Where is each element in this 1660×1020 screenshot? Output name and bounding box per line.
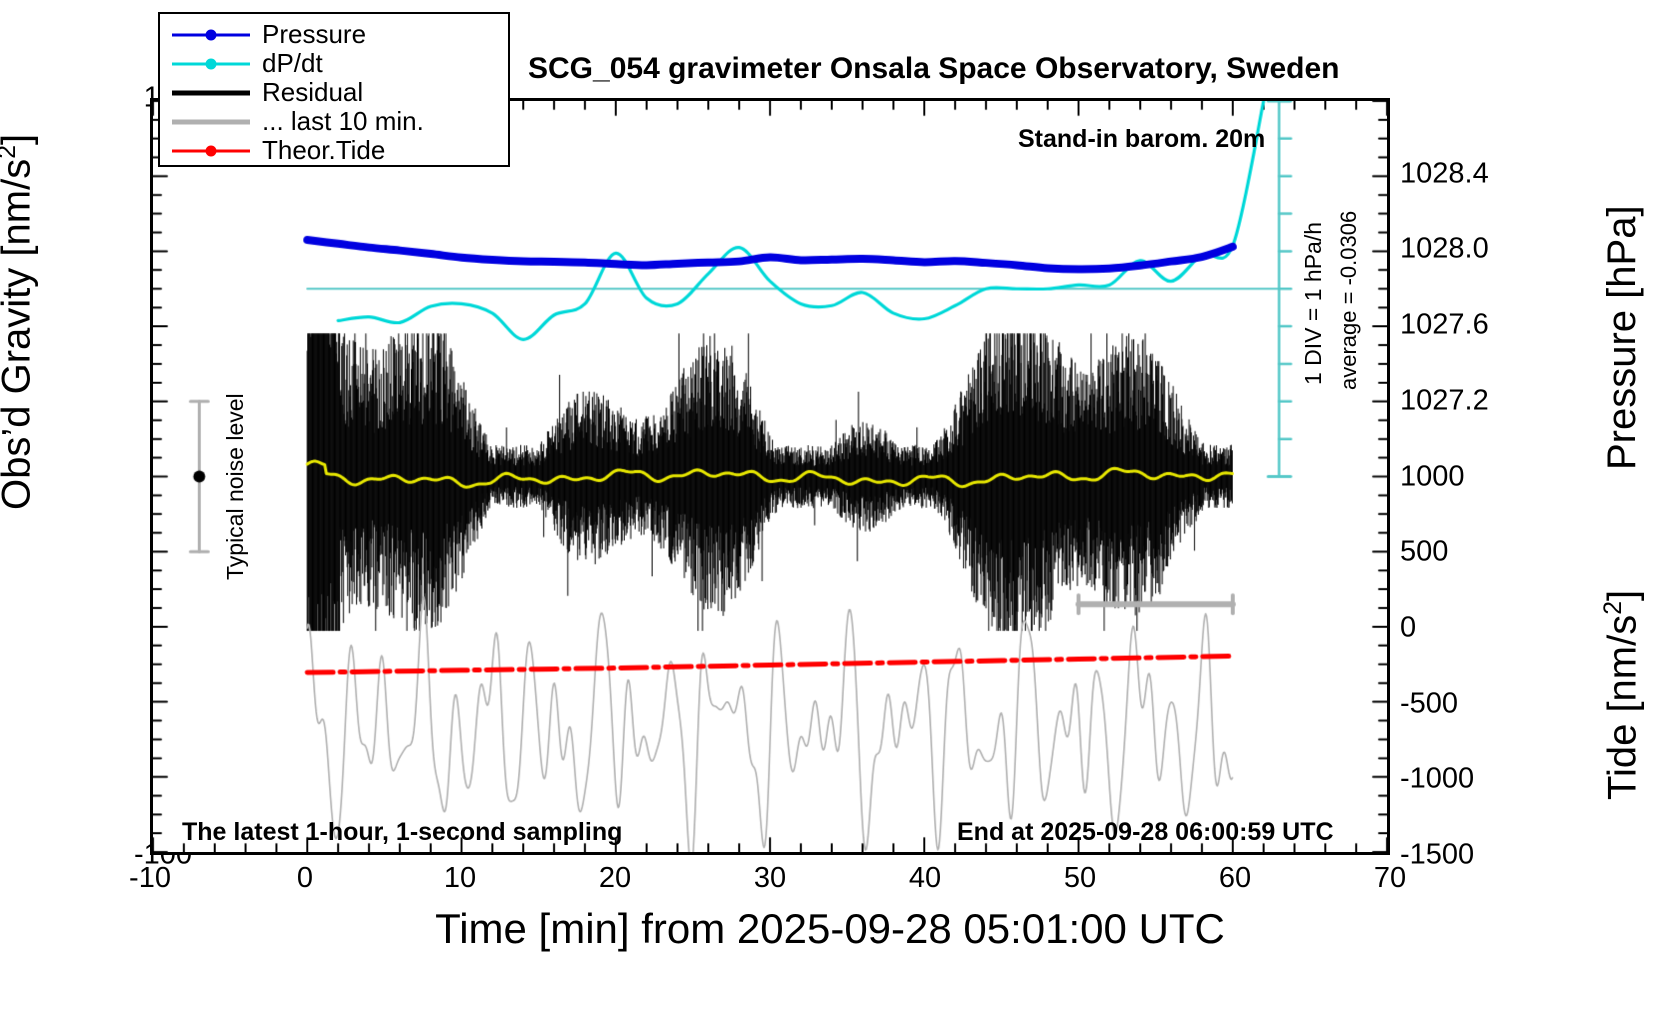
pressure-tick-label: 1028.0: [1400, 233, 1489, 266]
legend-item-label: Theor.Tide: [262, 135, 385, 166]
tide-tick-label: 500: [1400, 536, 1448, 569]
legend-item-label: dP/dt: [262, 48, 323, 79]
legend-swatch-icon: [172, 55, 250, 73]
average-note: average = -0.0306: [1336, 211, 1362, 390]
x-tick-label: 20: [599, 862, 631, 895]
legend-item-label: Residual: [262, 77, 363, 108]
legend-item[interactable]: Pressure: [160, 20, 508, 49]
legend-item[interactable]: Theor.Tide: [160, 136, 508, 165]
chart-root: Obs’d Gravity [nm/s2] -100-80-60-40-2002…: [0, 0, 1660, 1020]
x-tick-label: 50: [1064, 862, 1096, 895]
legend-swatch-icon: [172, 84, 250, 102]
y-axis-label-left: Obs’d Gravity [nm/s2]: [0, 134, 39, 510]
x-tick-label: 60: [1219, 862, 1251, 895]
x-tick-label: 40: [909, 862, 941, 895]
pressure-tick-label: 1027.6: [1400, 309, 1489, 342]
pressure-axis-label: Pressure [hPa]: [1600, 205, 1645, 470]
legend-item[interactable]: Residual: [160, 78, 508, 107]
noise-level-note: Typical noise level: [222, 393, 249, 580]
legend-swatch-icon: [172, 113, 250, 131]
tide-tick-label: -500: [1400, 687, 1458, 720]
page-title: SCG_054 gravimeter Onsala Space Observat…: [528, 52, 1340, 86]
standin-barometer-note: Stand-in barom. 20m: [1018, 125, 1265, 154]
legend: PressuredP/dtResidual... last 10 min.The…: [158, 12, 510, 167]
x-axis-label: Time [min] from 2025-09-28 05:01:00 UTC: [0, 905, 1660, 953]
legend-item[interactable]: dP/dt: [160, 49, 508, 78]
x-tick-label: 0: [297, 862, 313, 895]
pressure-tick-label: 1027.2: [1400, 384, 1489, 417]
tide-axis-label: Tide [nm/s2]: [1600, 590, 1645, 800]
legend-item-label: Pressure: [262, 19, 366, 50]
tide-tick-label: -1500: [1400, 839, 1474, 872]
tide-tick-label: -1000: [1400, 763, 1474, 796]
legend-item-label: ... last 10 min.: [262, 106, 424, 137]
legend-swatch-icon: [172, 142, 250, 160]
sampling-note: The latest 1-hour, 1-second sampling: [182, 818, 622, 847]
x-tick-label: 30: [754, 862, 786, 895]
div-scale-note: 1 DIV = 1 hPa/h: [1300, 222, 1327, 385]
legend-swatch-icon: [172, 26, 250, 44]
x-tick-label: -10: [129, 862, 171, 895]
pressure-tick-label: 1028.4: [1400, 157, 1489, 190]
x-tick-label: 10: [444, 862, 476, 895]
tide-tick-label: 1000: [1400, 460, 1465, 493]
end-time-note: End at 2025-09-28 06:00:59 UTC: [957, 818, 1334, 847]
plot-area: [150, 98, 1390, 855]
plot-canvas: [153, 101, 1387, 852]
legend-item[interactable]: ... last 10 min.: [160, 107, 508, 136]
tide-tick-label: 0: [1400, 611, 1416, 644]
